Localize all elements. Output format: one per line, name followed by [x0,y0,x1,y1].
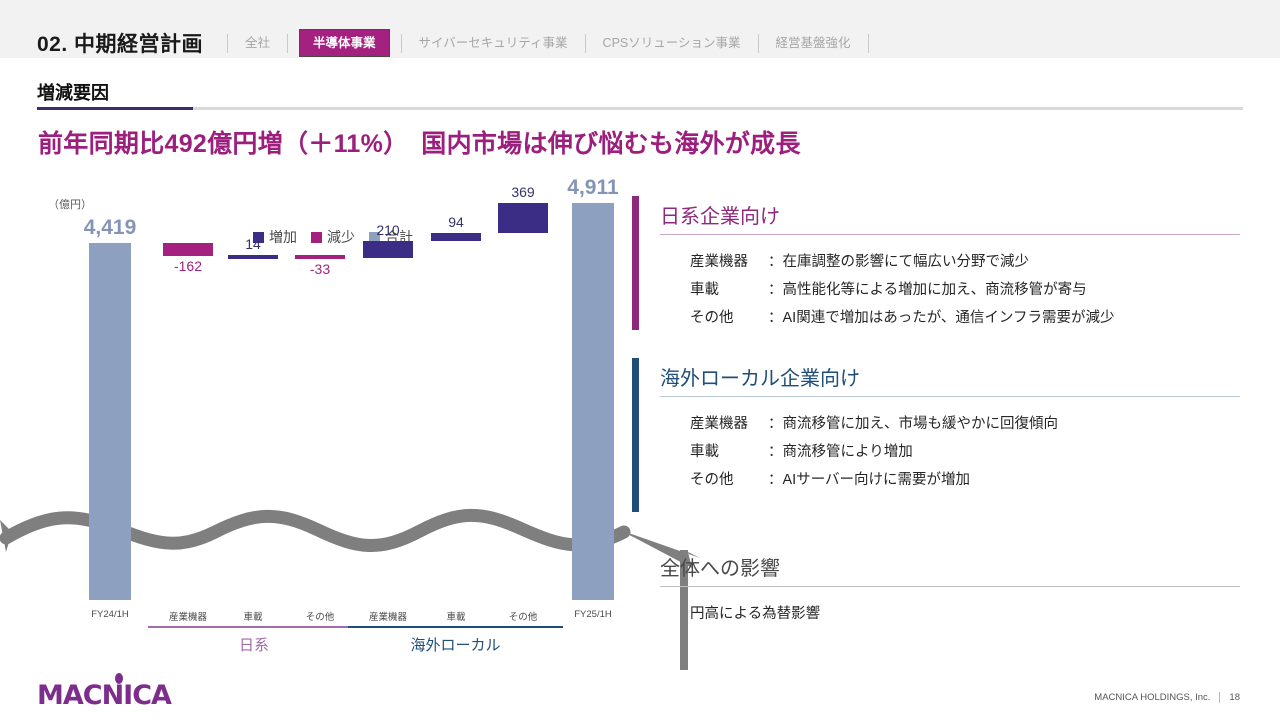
x-axis-label-8: FY25/1H [548,609,638,620]
row-key: その他 [690,468,768,489]
row-text: 商流移管により増加 [783,444,913,460]
logo-dot-icon [115,673,123,684]
headline: 前年同期比492億円増（＋11%） 国内市場は伸び悩むも海外が成長 [38,124,801,160]
footer-meta: MACNICA HOLDINGS, Inc. 18 [1094,692,1240,703]
bar-value-label-2: -162 [143,258,233,274]
row-separator: ： [768,472,783,488]
footer-company: MACNICA HOLDINGS, Inc. [1094,692,1210,703]
bar-6-increase [431,233,481,241]
row-key: 産業機器 [690,412,768,433]
panel-title-1: 日系企業向け [660,200,780,229]
panel-1-row-1: 産業機器：在庫調整の影響にて幅広い分野で減少 [690,250,1029,271]
tab-divider [758,34,759,53]
panel-title-2: 海外ローカル企業向け [660,362,860,391]
panel-rule-2 [660,396,1240,397]
row-key: 産業機器 [690,250,768,271]
row-text: 商流移管に加え、市場も緩やかに回復傾向 [783,416,1059,432]
row-text: AI関連で増加はあったが、通信インフラ需要が減少 [783,310,1115,326]
row-separator: ： [768,416,783,432]
panel-2-row-2: 車載：商流移管により増加 [690,440,913,461]
bar-7-increase [498,203,548,233]
tab-divider [585,34,586,53]
row-separator: ： [768,282,783,298]
row-text: 高性能化等による増加に加え、商流移管が寄与 [783,282,1087,298]
page-number: 18 [1229,692,1240,703]
tab-divider [287,34,288,53]
bar-value-label-4: -33 [275,261,365,277]
tab-1[interactable]: 全社 [239,33,276,53]
tab-divider [401,34,402,53]
row-separator: ： [768,444,783,460]
row-key: 車載 [690,278,768,299]
panel-3-row-1: 円高による為替影響 [690,602,820,623]
group-label-2: 海外ローカル [348,634,563,655]
section-subtitle: 増減要因 [37,79,109,105]
bar-value-label-1: 4,419 [65,216,155,240]
group-underline-1 [148,626,360,628]
tab-2[interactable]: 半導体事業 [299,29,390,57]
page-title: 02. 中期経営計画 [37,28,203,58]
section-tabs[interactable]: 全社半導体事業サイバーセキュリティ事業CPSソリューション事業経営基盤強化 [216,31,880,55]
macnica-logo: MACNICA [37,680,171,711]
panel-2-row-1: 産業機器：商流移管に加え、市場も緩やかに回復傾向 [690,412,1058,433]
panel-accent-bar-1 [632,196,639,330]
bar-5-increase [363,241,413,258]
row-separator: ： [768,254,783,270]
panel-3: 全体への影響円高による為替影響 [632,548,1252,608]
panel-1-row-3: その他：AI関連で増加はあったが、通信インフラ需要が減少 [690,306,1114,327]
panel-accent-bar-2 [632,358,639,512]
tab-divider [868,34,869,53]
panel-2: 海外ローカル企業向け産業機器：商流移管に加え、市場も緩やかに回復傾向車載：商流移… [632,358,1252,518]
slide-root: 02. 中期経営計画 全社半導体事業サイバーセキュリティ事業CPSソリューション… [0,0,1280,720]
bar-value-label-8: 4,911 [548,176,638,200]
tab-divider [227,34,228,53]
panel-2-row-3: その他：AIサーバー向けに需要が増加 [690,468,970,489]
bar-value-label-3: 14 [208,236,298,252]
bar-value-label-6: 94 [411,214,501,230]
group-underline-2 [348,626,563,628]
panel-rule-3 [660,586,1240,587]
footer-divider [1219,692,1220,703]
row-separator: ： [768,310,783,326]
subtitle-rule-accent [37,107,193,110]
panel-1-row-2: 車載：高性能化等による増加に加え、商流移管が寄与 [690,278,1087,299]
x-axis-label-1: FY24/1H [65,609,155,620]
bar-8-total [572,203,614,600]
tab-3[interactable]: サイバーセキュリティ事業 [413,33,574,53]
logo-text: MACNICA [37,680,171,711]
row-text: AIサーバー向けに需要が増加 [783,472,971,488]
bar-1-total [89,243,131,600]
panel-title-3: 全体への影響 [660,552,780,581]
row-key: その他 [690,306,768,327]
subtitle-rule [37,107,1243,110]
waterfall-chart: 4,419FY24/1H-162産業機器14車載-33その他210産業機器94車… [48,180,628,650]
group-label-1: 日系 [148,634,360,655]
row-text: 円高による為替影響 [690,606,820,622]
bar-4-decrease [295,255,345,259]
bar-3-increase [228,255,278,259]
row-key: 車載 [690,440,768,461]
panel-rule-1 [660,234,1240,235]
panel-1: 日系企業向け産業機器：在庫調整の影響にて幅広い分野で減少車載：高性能化等による増… [632,196,1252,336]
bar-2-decrease [163,243,213,256]
tab-5[interactable]: 経営基盤強化 [770,33,857,53]
tab-4[interactable]: CPSソリューション事業 [597,33,747,53]
row-text: 在庫調整の影響にて幅広い分野で減少 [783,254,1030,270]
